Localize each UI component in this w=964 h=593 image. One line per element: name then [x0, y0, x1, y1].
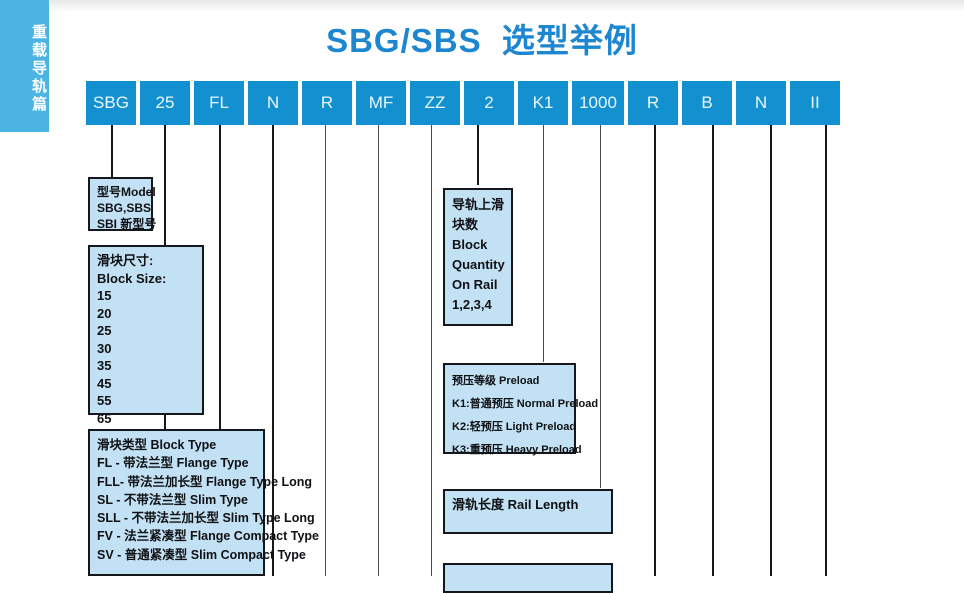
code-box-r[interactable]: R	[302, 81, 352, 125]
callout-rail-length: 滑轨长度 Rail Length	[443, 489, 613, 534]
callout-line: SV - 普通紧凑型 Slim Compact Type	[97, 546, 257, 564]
callout-line: K1:普通预压 Normal Preload	[452, 393, 568, 416]
connector-line-0	[111, 125, 113, 183]
callout-line: 预压等级 Preload	[452, 370, 568, 393]
callout-line: SLL - 不带法兰加长型 Slim Type Long	[97, 509, 257, 527]
code-box-fl[interactable]: FL	[194, 81, 244, 125]
code-box-b[interactable]: B	[682, 81, 732, 125]
code-box-ii[interactable]: II	[790, 81, 840, 125]
callout-line: FL - 带法兰型 Flange Type	[97, 454, 257, 472]
callout-model: 型号ModelSBG,SBSSBI 新型号	[88, 177, 153, 231]
callout-line: 15	[97, 287, 196, 305]
callout-line: 55	[97, 392, 196, 410]
callout-line: Quantity	[452, 255, 505, 275]
connector-line-6	[431, 125, 432, 576]
connector-line-7	[477, 125, 479, 185]
callout-line: FLL- 带法兰加长型 Flange Type Long	[97, 473, 257, 491]
connector-line-12	[770, 125, 772, 576]
callout-line: 滑块类型 Block Type	[97, 436, 257, 454]
connector-line-11	[712, 125, 714, 576]
connector-line-8	[543, 125, 544, 362]
code-box-mf[interactable]: MF	[356, 81, 406, 125]
connector-line-4	[325, 125, 326, 576]
page-title: SBG/SBS 选型举例	[0, 14, 964, 62]
code-box-zz[interactable]: ZZ	[410, 81, 460, 125]
code-box-n[interactable]: N	[736, 81, 786, 125]
callout-clipped-bottom	[443, 563, 613, 593]
callout-line: 滑块尺寸:	[97, 252, 196, 270]
connector-line-13	[825, 125, 827, 576]
code-box-25[interactable]: 25	[140, 81, 190, 125]
callout-preload: 预压等级 PreloadK1:普通预压 Normal PreloadK2:轻预压…	[443, 363, 576, 454]
callout-line: 型号Model	[97, 184, 145, 200]
callout-block-size: 滑块尺寸:Block Size:1520253035455565	[88, 245, 204, 415]
callout-line: 35	[97, 357, 196, 375]
connector-line-5	[378, 125, 379, 576]
connector-line-10	[654, 125, 656, 576]
callout-block-type: 滑块类型 Block TypeFL - 带法兰型 Flange TypeFLL-…	[88, 429, 265, 576]
callout-line: 30	[97, 340, 196, 358]
callout-line: 45	[97, 375, 196, 393]
callout-line: FV - 法兰紧凑型 Flange Compact Type	[97, 527, 257, 545]
callout-line: 导轨上滑	[452, 195, 505, 215]
callout-line: 65	[97, 410, 196, 428]
callout-line: SBI 新型号	[97, 216, 145, 232]
callout-line: SL - 不带法兰型 Slim Type	[97, 491, 257, 509]
callout-line: 块数	[452, 215, 505, 235]
top-gradient-strip	[0, 0, 964, 13]
code-box-sbg[interactable]: SBG	[86, 81, 136, 125]
callout-line: 滑轨长度 Rail Length	[452, 496, 605, 513]
code-box-n[interactable]: N	[248, 81, 298, 125]
callout-line: SBG,SBS	[97, 200, 145, 216]
code-box-2[interactable]: 2	[464, 81, 514, 125]
code-box-k1[interactable]: K1	[518, 81, 568, 125]
callout-line: K3:重预压 Heavy Preload	[452, 439, 568, 462]
code-box-1000[interactable]: 1000	[572, 81, 624, 125]
callout-line: 1,2,3,4	[452, 295, 505, 315]
connector-line-9	[600, 125, 601, 488]
callout-line: 25	[97, 322, 196, 340]
connector-line-3	[272, 125, 274, 576]
callout-block-quantity: 导轨上滑块数BlockQuantityOn Rail1,2,3,4	[443, 188, 513, 326]
callout-line: Block Size:	[97, 270, 196, 288]
callout-line: Block	[452, 235, 505, 255]
callout-line: 20	[97, 305, 196, 323]
code-box-r[interactable]: R	[628, 81, 678, 125]
callout-line: On Rail	[452, 275, 505, 295]
callout-line: K2:轻预压 Light Preload	[452, 416, 568, 439]
